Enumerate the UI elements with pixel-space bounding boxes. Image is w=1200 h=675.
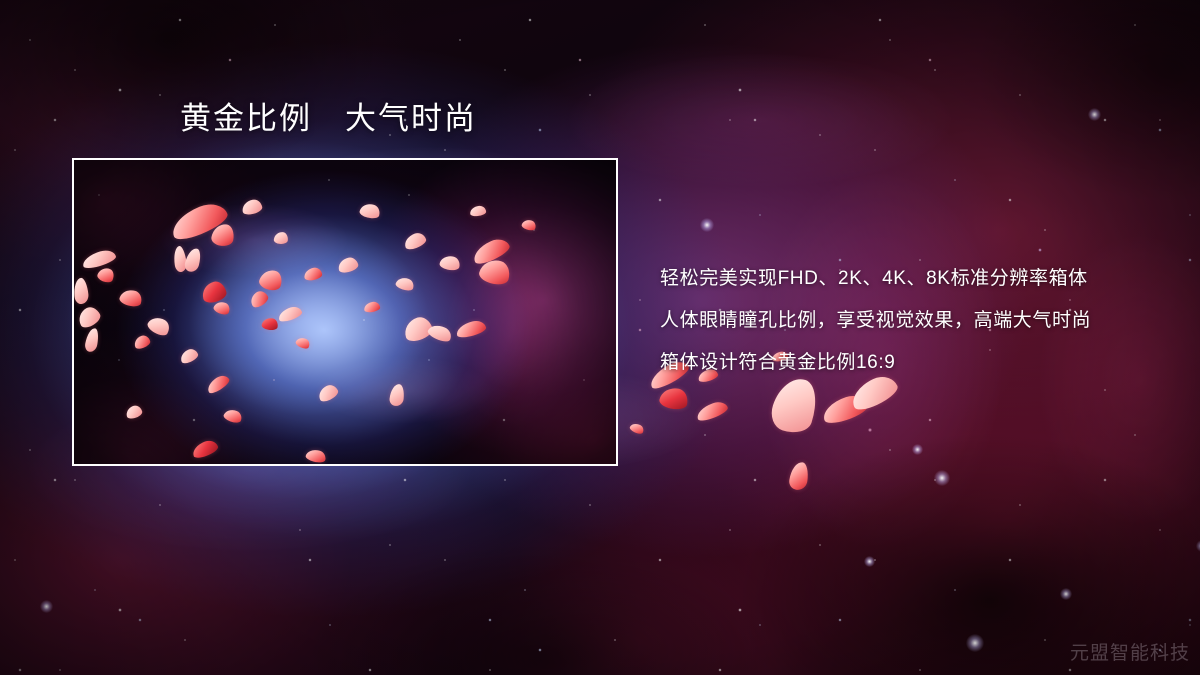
body-line: 人体眼睛瞳孔比例，享受视觉效果，高端大气时尚 — [660, 300, 1140, 342]
watermark: 元盟智能科技 — [1070, 638, 1190, 665]
bright-star-glow — [700, 218, 714, 232]
bright-star-glow — [864, 556, 875, 567]
page-title: 黄金比例 大气时尚 — [180, 99, 477, 139]
body-line: 箱体设计符合黄金比例16:9 — [660, 342, 1140, 384]
petal — [820, 391, 871, 426]
panel-vignette — [74, 160, 616, 464]
bright-star-glow — [912, 444, 923, 455]
petal — [629, 421, 645, 435]
bright-star-glow — [1088, 108, 1101, 121]
petal — [788, 461, 810, 491]
petal — [695, 399, 730, 423]
slide-canvas: 黄金比例 大气时尚 轻松完美实现FHD、2K、4K、8K标准分辨率箱体 人体眼睛… — [0, 0, 1200, 675]
bright-star-glow — [934, 470, 950, 486]
petal — [658, 385, 690, 411]
body-text-block: 轻松完美实现FHD、2K、4K、8K标准分辨率箱体 人体眼睛瞳孔比例，享受视觉效… — [660, 258, 1140, 384]
image-frame — [72, 158, 618, 466]
bright-star-glow — [40, 600, 53, 613]
body-line: 轻松完美实现FHD、2K、4K、8K标准分辨率箱体 — [660, 258, 1140, 300]
bright-star-glow — [966, 634, 984, 652]
bright-star-glow — [1060, 588, 1072, 600]
bright-star-glow — [1196, 540, 1200, 552]
